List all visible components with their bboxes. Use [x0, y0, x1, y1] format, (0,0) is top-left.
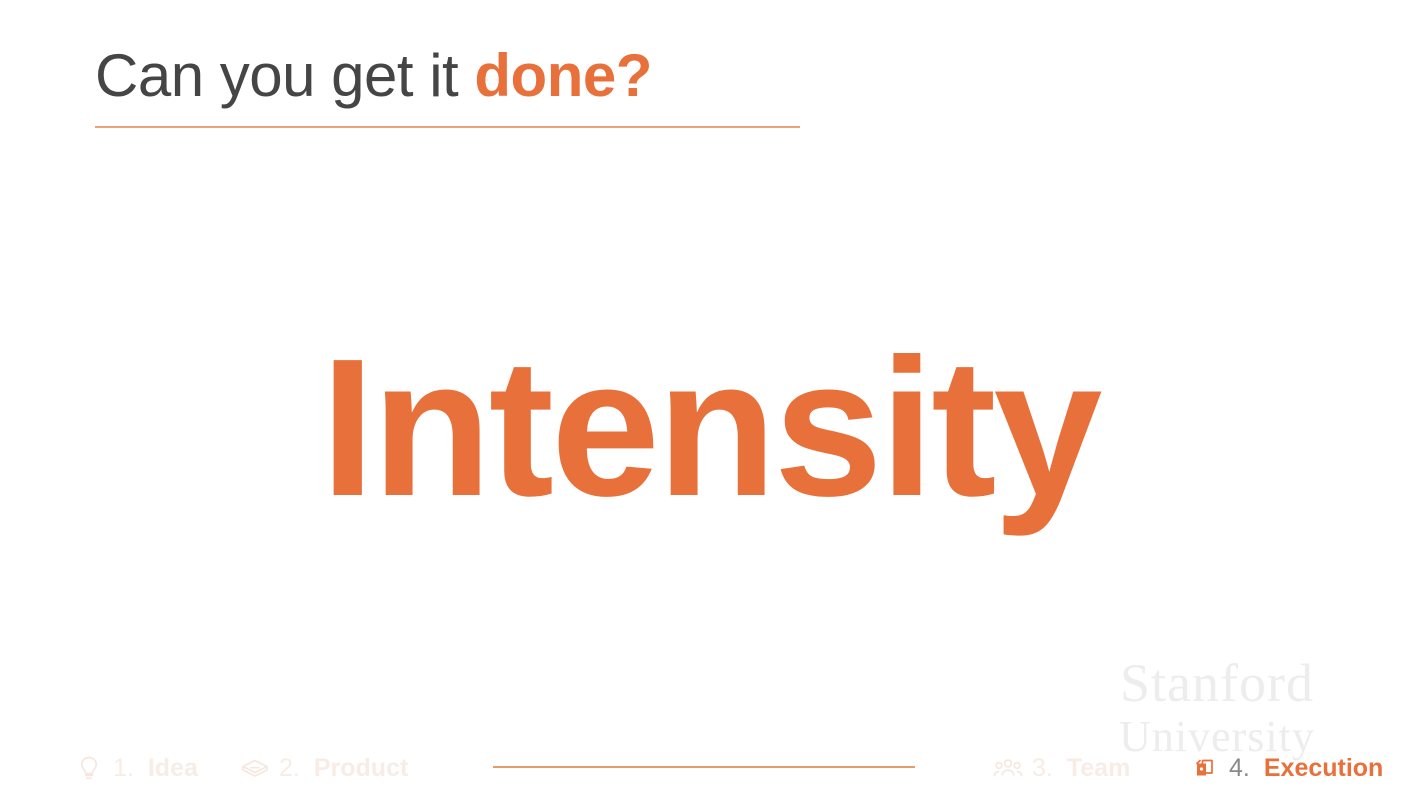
- footer-item-label: Execution: [1264, 756, 1383, 781]
- footer-item-number: 4.: [1229, 756, 1250, 781]
- stanford-university-watermark: Stanford University: [1082, 656, 1352, 760]
- hero-block: Intensity: [0, 330, 1420, 526]
- footer-divider: [493, 766, 915, 768]
- footer-item-product[interactable]: 2. Product: [240, 754, 408, 782]
- footer-item-label: Team: [1067, 756, 1130, 781]
- page-title: Can you get it done?: [95, 46, 805, 106]
- title-underline-divider: [95, 126, 800, 128]
- page-title-accent: done?: [474, 42, 651, 109]
- footer-item-team[interactable]: 3. Team: [993, 754, 1130, 782]
- people-icon: [993, 754, 1023, 782]
- watermark-line-stanford: Stanford: [1082, 656, 1352, 710]
- footer-item-label: Idea: [148, 756, 198, 781]
- title-block: Can you get it done?: [95, 46, 805, 128]
- footer-item-number: 3.: [1032, 756, 1053, 781]
- footer-item-idea[interactable]: 1. Idea: [74, 754, 198, 782]
- footer-item-number: 2.: [279, 756, 300, 781]
- slide-canvas: Can you get it done? Intensity Stanford …: [0, 0, 1420, 791]
- lightbulb-icon: [74, 754, 104, 782]
- page-title-lead: Can you get it: [95, 42, 474, 109]
- footer-nav: 1. Idea 2. Product: [0, 748, 1420, 791]
- hero-word: Intensity: [321, 330, 1100, 526]
- footer-item-number: 1.: [113, 756, 134, 781]
- box-icon: [240, 754, 270, 782]
- footer-item-execution[interactable]: 4. Execution: [1190, 754, 1383, 782]
- footer-item-label: Product: [314, 756, 408, 781]
- rocket-icon: [1190, 754, 1220, 782]
